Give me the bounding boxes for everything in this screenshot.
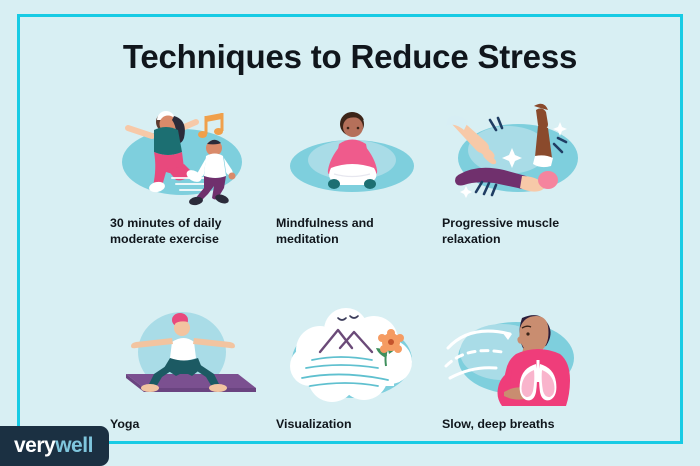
techniques-grid: 30 minutes of daily moderate exercise bbox=[110, 100, 610, 433]
caption-line-1: Slow, deep breaths bbox=[442, 417, 554, 431]
logo-text-well: well bbox=[55, 434, 93, 458]
technique-card-muscle-relaxation: Progressive muscle relaxation bbox=[442, 100, 608, 248]
technique-card-exercise: 30 minutes of daily moderate exercise bbox=[110, 100, 276, 248]
technique-card-mindfulness: Mindfulness and meditation bbox=[276, 100, 442, 248]
caption-line-1: Yoga bbox=[110, 417, 139, 431]
technique-card-breathing: Slow, deep breaths bbox=[442, 304, 608, 433]
technique-caption: Yoga bbox=[110, 417, 276, 433]
logo-text-very: very bbox=[14, 434, 55, 458]
running-people-with-music-notes-icon bbox=[110, 100, 270, 210]
caption-line-2: relaxation bbox=[442, 232, 501, 246]
person-breathing-with-lungs-icon bbox=[442, 304, 602, 409]
technique-caption: Slow, deep breaths bbox=[442, 417, 608, 433]
techniques-row-2: Yoga bbox=[110, 304, 610, 433]
person-in-warrior-pose-icon bbox=[110, 304, 270, 409]
stretching-arms-and-leg-icon bbox=[442, 100, 602, 210]
technique-card-yoga: Yoga bbox=[110, 304, 276, 433]
caption-line-1: Mindfulness and bbox=[276, 216, 374, 230]
caption-line-2: moderate exercise bbox=[110, 232, 219, 246]
infographic-poster: Techniques to Reduce Stress bbox=[0, 0, 700, 466]
verywell-logo: verywell bbox=[0, 426, 109, 466]
page-title: Techniques to Reduce Stress bbox=[0, 38, 700, 76]
technique-caption: 30 minutes of daily moderate exercise bbox=[110, 216, 276, 248]
caption-line-1: Visualization bbox=[276, 417, 352, 431]
caption-line-1: Progressive muscle bbox=[442, 216, 559, 230]
technique-caption: Mindfulness and meditation bbox=[276, 216, 442, 248]
techniques-row-1: 30 minutes of daily moderate exercise bbox=[110, 100, 610, 248]
cloud-with-mountains-and-flower-icon bbox=[276, 304, 436, 409]
caption-line-2: meditation bbox=[276, 232, 339, 246]
caption-line-1: 30 minutes of daily bbox=[110, 216, 222, 230]
person-meditating-icon bbox=[276, 100, 436, 210]
technique-card-visualization: Visualization bbox=[276, 304, 442, 433]
technique-caption: Progressive muscle relaxation bbox=[442, 216, 608, 248]
technique-caption: Visualization bbox=[276, 417, 442, 433]
